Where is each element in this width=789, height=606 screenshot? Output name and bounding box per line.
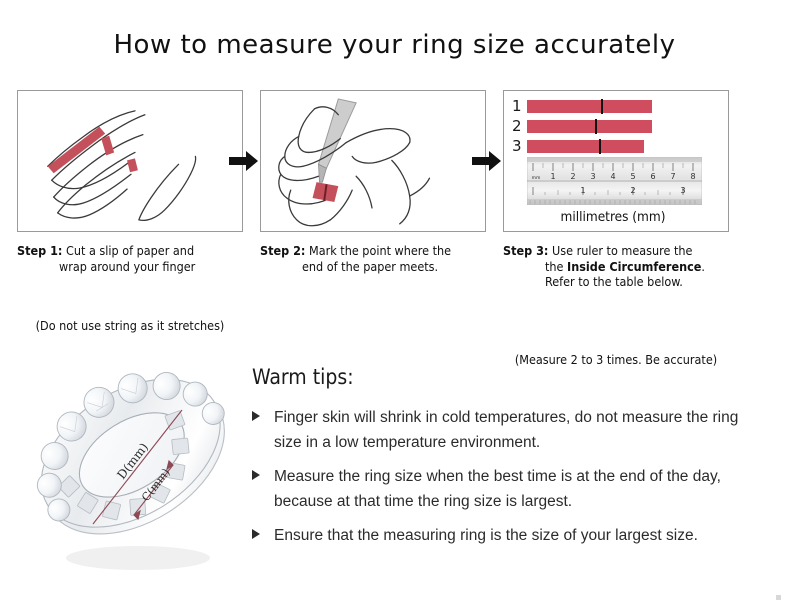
strip-bar-2 bbox=[527, 120, 652, 133]
diamond-ring-illustration-icon: D(mm) C(mm) bbox=[30, 352, 245, 582]
step-2-illustration-panel bbox=[260, 90, 486, 232]
measured-strip-row-3: 3 bbox=[512, 139, 644, 154]
step-3-label: Step 3: bbox=[503, 243, 548, 258]
step-column-3: 1 2 3 bbox=[503, 90, 731, 290]
step-3-line2: the Inside Circumference. bbox=[503, 259, 729, 275]
step-1-caption: Step 1: Cut a slip of paper and wrap aro… bbox=[17, 243, 243, 274]
step-1-line2: wrap around your finger bbox=[17, 259, 243, 275]
step-1-illustration-panel bbox=[17, 90, 243, 232]
step-3-line3: Refer to the table below. bbox=[503, 274, 729, 290]
hand-marking-strip-with-pen-icon bbox=[261, 91, 485, 232]
warm-tip-text-2: Measure the ring size when the best time… bbox=[274, 468, 721, 510]
arrow-right-icon-2 bbox=[472, 148, 502, 174]
warm-tips-section: Warm tips: Finger skin will shrink in co… bbox=[252, 365, 752, 557]
step-column-1: Step 1: Cut a slip of paper and wrap aro… bbox=[17, 90, 245, 274]
strip-bar-1 bbox=[527, 100, 652, 113]
step-3-illustration-panel: 1 2 3 bbox=[503, 90, 729, 232]
svg-text:8: 8 bbox=[690, 172, 695, 181]
measured-strip-row-1: 1 bbox=[512, 99, 652, 114]
svg-text:1: 1 bbox=[580, 186, 585, 195]
svg-text:2: 2 bbox=[630, 186, 635, 195]
measured-strip-row-2: 2 bbox=[512, 119, 652, 134]
svg-text:mm: mm bbox=[532, 176, 541, 181]
corner-watermark bbox=[776, 595, 781, 600]
ruler-unit-label: millimetres (mm) bbox=[504, 209, 722, 225]
warm-tips-heading: Warm tips: bbox=[252, 365, 752, 389]
step-2-label: Step 2: bbox=[260, 243, 305, 258]
arrow-right-icon-1 bbox=[229, 148, 259, 174]
strip-number-1: 1 bbox=[512, 99, 527, 114]
step-1-line1: Cut a slip of paper and bbox=[66, 243, 194, 258]
step-3-emphasis: Inside Circumference bbox=[567, 259, 701, 274]
svg-text:1: 1 bbox=[550, 172, 555, 181]
ring-diagram: D(mm) C(mm) bbox=[30, 352, 245, 582]
step-3-line2-suffix: . bbox=[701, 259, 705, 274]
step-1-note: (Do not use string as it stretches) bbox=[17, 318, 243, 333]
warm-tip-item-1: Finger skin will shrink in cold temperat… bbox=[252, 405, 752, 455]
svg-text:5: 5 bbox=[630, 172, 635, 181]
triangle-bullet-icon-3 bbox=[252, 529, 260, 539]
strip-number-2: 2 bbox=[512, 119, 527, 134]
step-3-line1: Use ruler to measure the bbox=[552, 243, 692, 258]
triangle-bullet-icon-2 bbox=[252, 470, 260, 480]
svg-text:3: 3 bbox=[680, 186, 685, 195]
strip-bar-3 bbox=[527, 140, 644, 153]
strip-mark-1 bbox=[601, 99, 603, 114]
marked-paper-strip-shape bbox=[313, 182, 339, 202]
warm-tip-text-3: Ensure that the measuring ring is the si… bbox=[274, 527, 698, 544]
svg-text:2: 2 bbox=[570, 172, 575, 181]
page-title: How to measure your ring size accurately bbox=[0, 30, 789, 60]
strip-mark-3 bbox=[599, 139, 601, 154]
svg-text:3: 3 bbox=[590, 172, 595, 181]
strip-number-3: 3 bbox=[512, 139, 527, 154]
step-1-label: Step 1: bbox=[17, 243, 62, 258]
step-column-2: Step 2: Mark the point where the end of … bbox=[260, 90, 488, 274]
step-2-line2: end of the paper meets. bbox=[260, 259, 486, 275]
strip-mark-2 bbox=[595, 119, 597, 134]
ruler-icon: 1 2 3 4 5 6 7 8 mm bbox=[527, 157, 702, 205]
warm-tip-text-1: Finger skin will shrink in cold temperat… bbox=[274, 409, 738, 451]
step-3-line2-prefix: the bbox=[545, 259, 567, 274]
step-2-caption: Step 2: Mark the point where the end of … bbox=[260, 243, 486, 274]
triangle-bullet-icon-1 bbox=[252, 411, 260, 421]
svg-text:7: 7 bbox=[670, 172, 675, 181]
steps-section: Step 1: Cut a slip of paper and wrap aro… bbox=[0, 90, 789, 340]
svg-text:4: 4 bbox=[610, 172, 615, 181]
warm-tip-item-3: Ensure that the measuring ring is the si… bbox=[252, 523, 752, 548]
hand-with-paper-strip-icon bbox=[18, 91, 242, 232]
step-2-line1: Mark the point where the bbox=[309, 243, 451, 258]
step-3-caption: Step 3: Use ruler to measure the the Ins… bbox=[503, 243, 729, 290]
svg-text:6: 6 bbox=[650, 172, 655, 181]
warm-tip-item-2: Measure the ring size when the best time… bbox=[252, 464, 752, 514]
